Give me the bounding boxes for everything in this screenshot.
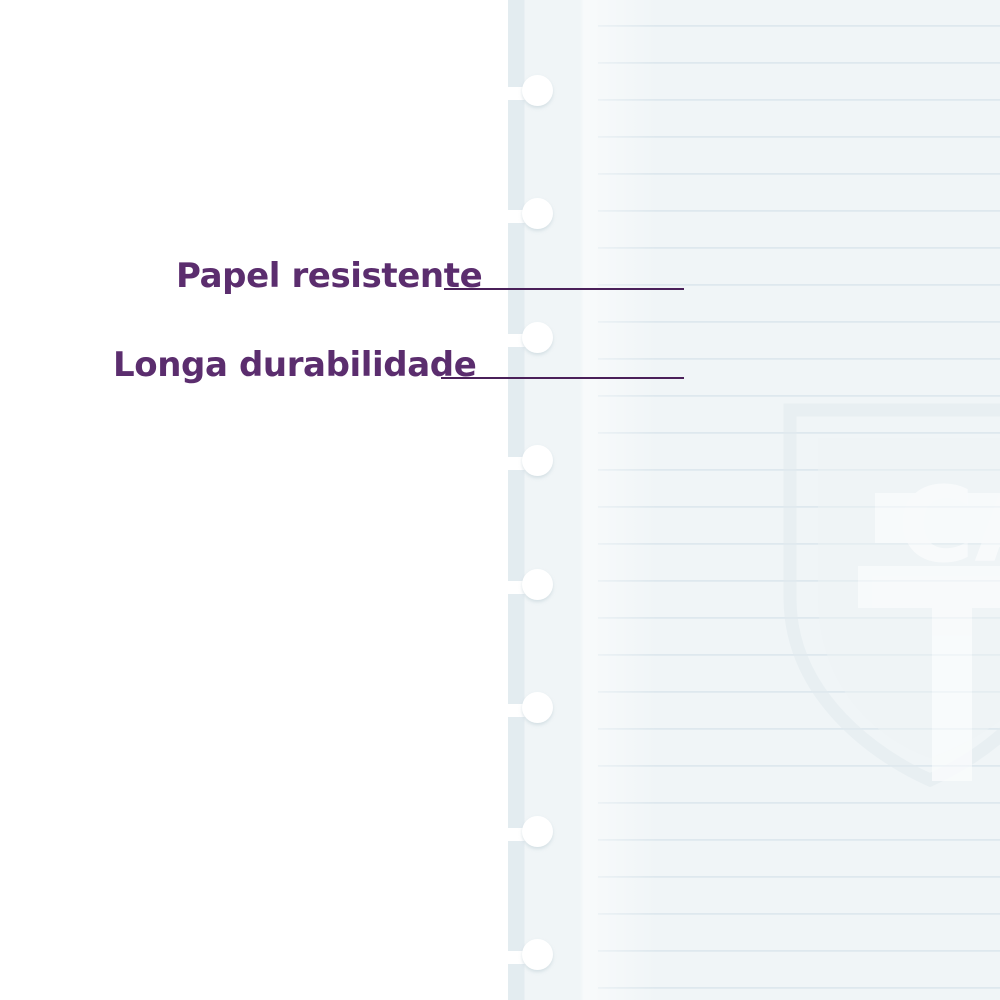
- punch-hole: [508, 569, 554, 603]
- ruled-line: [598, 284, 1000, 286]
- punch-hole: [508, 198, 554, 232]
- ruled-line: [598, 506, 1000, 508]
- punch-hole-disc: [522, 816, 553, 847]
- ruled-line: [598, 728, 1000, 730]
- punch-hole-disc: [522, 569, 553, 600]
- ruled-line: [598, 876, 1000, 878]
- ruled-line: [598, 395, 1000, 397]
- ruled-line: [598, 173, 1000, 175]
- ruled-line: [598, 358, 1000, 360]
- punch-hole-disc: [522, 75, 553, 106]
- ruled-line: [598, 654, 1000, 656]
- scene-root: CA Papel resistente Longa durabilidade: [0, 0, 1000, 1000]
- ruled-line: [598, 25, 1000, 27]
- punch-hole-disc: [522, 445, 553, 476]
- ruled-line: [598, 99, 1000, 101]
- feature-label-longa-durabilidade: Longa durabilidade: [113, 348, 476, 382]
- ruled-line: [598, 913, 1000, 915]
- ruled-line: [598, 839, 1000, 841]
- punch-hole: [508, 816, 554, 850]
- punch-hole: [508, 692, 554, 726]
- ruled-line: [598, 691, 1000, 693]
- feature-label-papel-resistente: Papel resistente: [176, 259, 482, 293]
- ruled-line: [598, 247, 1000, 249]
- ruled-line: [598, 432, 1000, 434]
- ruled-line: [598, 210, 1000, 212]
- ruled-line: [598, 580, 1000, 582]
- ruled-line: [598, 950, 1000, 952]
- feature-callout-2: Longa durabilidade: [113, 348, 476, 382]
- ruled-line: [598, 617, 1000, 619]
- feature-underline-2: [441, 377, 684, 379]
- left-white-panel: Papel resistente Longa durabilidade: [0, 0, 508, 1000]
- notebook-paper: CA: [508, 0, 1000, 1000]
- punch-hole-disc: [522, 198, 553, 229]
- punch-hole-disc: [522, 322, 553, 353]
- ruled-lines-group: [508, 0, 1000, 1000]
- ruled-line: [598, 62, 1000, 64]
- ruled-line: [598, 321, 1000, 323]
- feature-callout-1: Papel resistente: [176, 259, 482, 293]
- ruled-line: [598, 469, 1000, 471]
- feature-underline-1: [444, 288, 684, 290]
- punch-hole: [508, 939, 554, 973]
- ruled-line: [598, 987, 1000, 989]
- ruled-line: [598, 765, 1000, 767]
- ruled-line: [598, 543, 1000, 545]
- punch-hole: [508, 445, 554, 479]
- punch-hole-disc: [522, 939, 553, 970]
- ruled-line: [598, 802, 1000, 804]
- punch-hole-disc: [522, 692, 553, 723]
- punch-hole: [508, 322, 554, 356]
- punch-hole: [508, 75, 554, 109]
- ruled-line: [598, 136, 1000, 138]
